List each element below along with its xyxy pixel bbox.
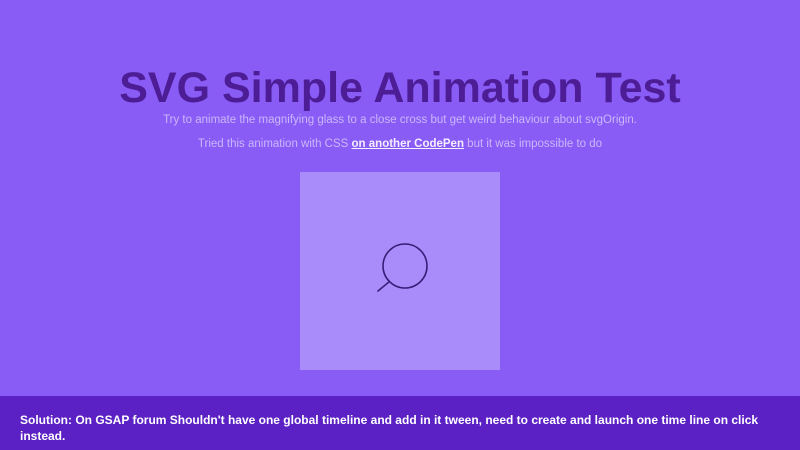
page-root: SVG Simple Animation Test Try to animate… [0,0,800,450]
magnifying-glass-svg[interactable] [300,172,500,370]
solution-text: Solution: On GSAP forum Shouldn't have o… [20,412,780,444]
page-title: SVG Simple Animation Test [0,63,800,113]
svg-animation-stage[interactable] [300,172,500,370]
subtitle-line-2: Tried this animation with CSS on another… [0,137,800,151]
subtitle-line-2-suffix: but it was impossible to do [464,138,602,150]
subtitle-line-2-prefix: Tried this animation with CSS [198,138,352,150]
magnifying-glass-handle-icon [378,282,390,292]
solution-banner: Solution: On GSAP forum Shouldn't have o… [0,396,800,450]
subtitle-line-1: Try to animate the magnifying glass to a… [0,113,800,127]
another-codepen-link[interactable]: on another CodePen [352,138,464,150]
subtitle-line-1-text: Try to animate the magnifying glass to a… [163,114,637,126]
